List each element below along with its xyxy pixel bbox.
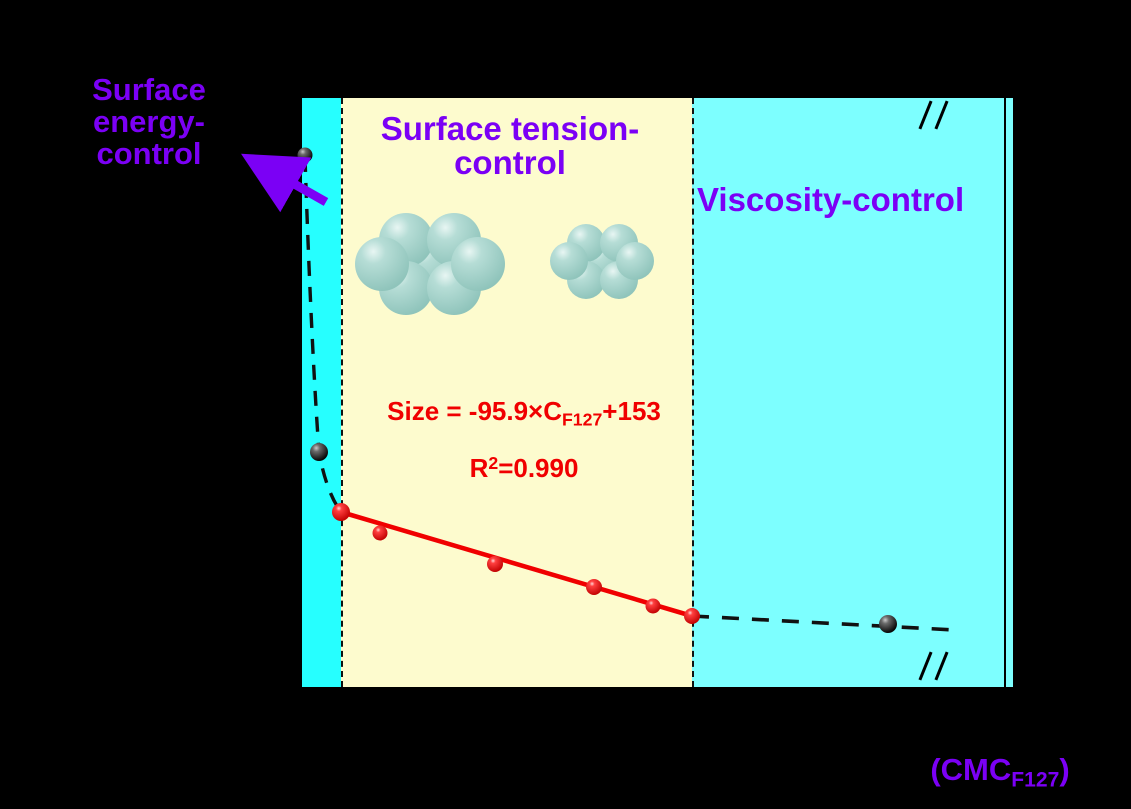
divider-tension-viscosity (692, 98, 694, 687)
label-surface-tension-line2: control (345, 146, 675, 180)
axis-label-suffix: ) (1059, 752, 1069, 787)
equation-prefix: Size = -95.9×C (387, 396, 562, 426)
label-surface-energy-line3: control (44, 138, 254, 170)
equation-suffix: +153 (602, 396, 661, 426)
equation-subscript: F127 (562, 409, 602, 429)
axis-label-prefix: (CMC (930, 752, 1011, 787)
r-squared-base: R (470, 453, 489, 483)
divider-surface-energy-tension (341, 98, 343, 687)
label-surface-tension-line1: Surface tension- (345, 112, 675, 146)
equation-r-squared-line: R2=0.990 (349, 455, 699, 481)
r-squared-value: =0.990 (498, 453, 578, 483)
label-surface-energy-line1: Surface (44, 74, 254, 106)
region-surface-energy-control (302, 98, 341, 687)
label-surface-energy-control: Surface energy- control (44, 74, 254, 171)
region-surface-tension-control (341, 98, 692, 687)
axis-label-subscript: F127 (1011, 768, 1059, 791)
label-surface-tension-control: Surface tension- control (345, 112, 675, 181)
x-axis-label: (CMCF127) (880, 752, 1120, 792)
r-squared-exponent: 2 (488, 453, 498, 473)
regression-equation-block: Size = -95.9×CF127+153 R2=0.990 (349, 398, 699, 481)
equation-size-line: Size = -95.9×CF127+153 (349, 398, 699, 429)
label-surface-energy-line2: energy- (44, 106, 254, 138)
label-viscosity-control: Viscosity-control (697, 183, 1027, 217)
